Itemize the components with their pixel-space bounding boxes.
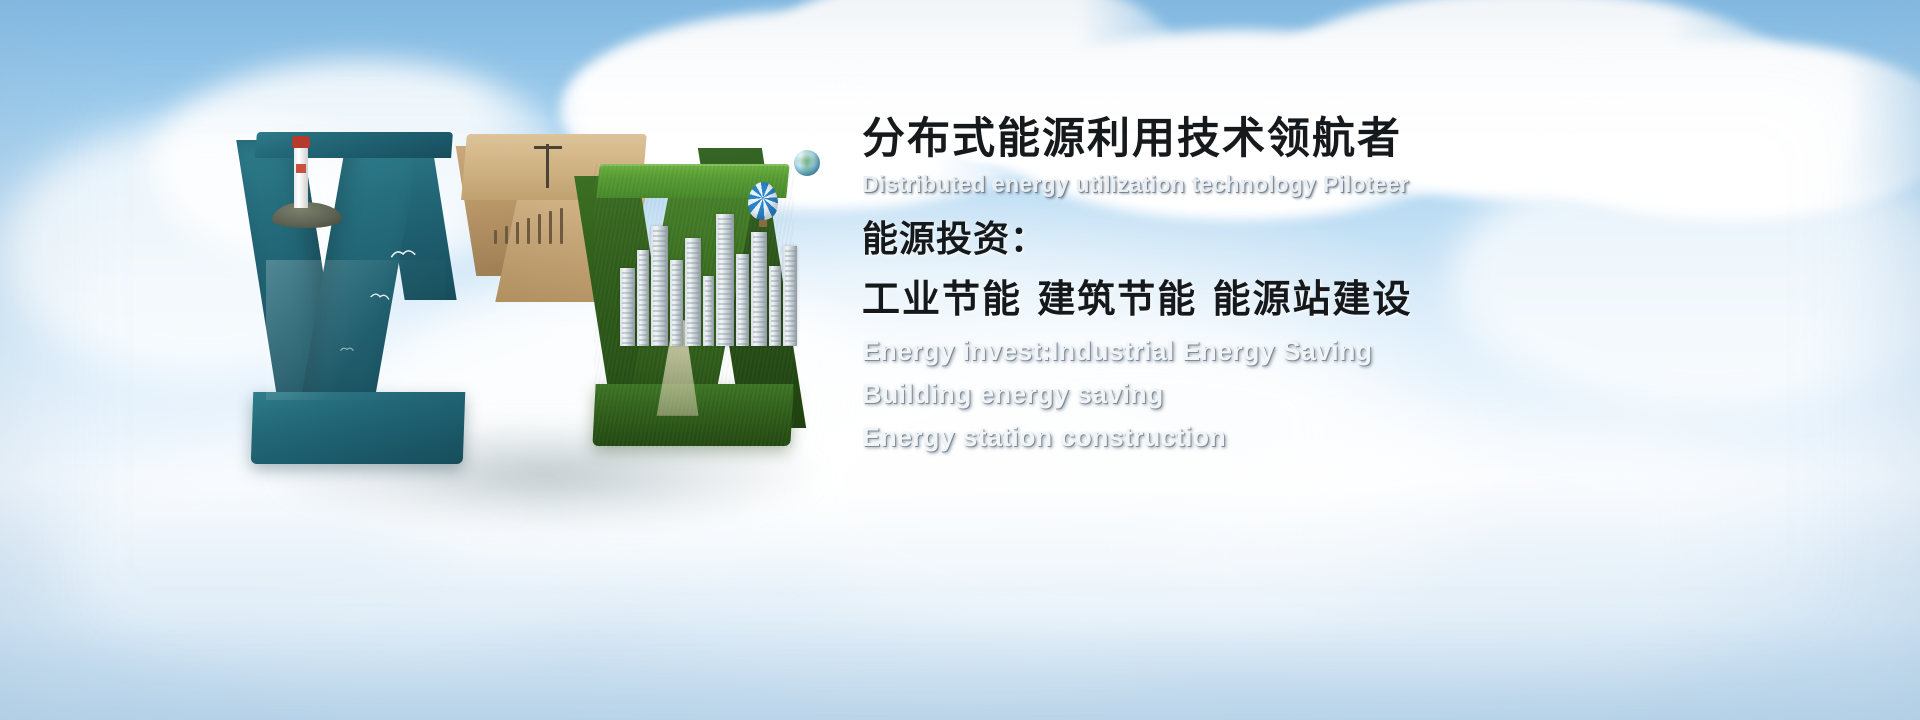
services-english-line-1: Energy invest:Industrial Energy Saving — [862, 338, 1762, 365]
subheadline-english: Distributed energy utilization technolog… — [862, 173, 1762, 196]
services-chinese: 工业节能 建筑节能 能源站建设 — [862, 280, 1762, 318]
ocean-slab-base — [251, 392, 466, 464]
services-english-line-3: Energy station construction — [862, 424, 1762, 451]
city-skyline-icon — [618, 196, 798, 346]
services-english-line-2: Building energy saving — [862, 381, 1762, 408]
hot-air-balloon-icon — [748, 182, 778, 220]
lighthouse-icon — [294, 146, 308, 208]
hero-artwork — [236, 120, 856, 510]
seagull-icon — [340, 346, 354, 356]
hero-banner: 分布式能源利用技术领航者 Distributed energy utilizat… — [0, 0, 1920, 720]
letter-w-land — [448, 138, 838, 478]
globe-icon — [794, 150, 820, 176]
section-label-chinese: 能源投资： — [862, 222, 1762, 258]
cloud-shape — [1150, 420, 1850, 700]
ocean-surface — [255, 132, 453, 158]
utility-pole-icon — [546, 144, 549, 188]
headline-chinese: 分布式能源利用技术领航者 — [862, 118, 1762, 161]
banner-copy: 分布式能源利用技术领航者 Distributed energy utilizat… — [862, 118, 1762, 451]
fence-icon — [494, 208, 570, 244]
